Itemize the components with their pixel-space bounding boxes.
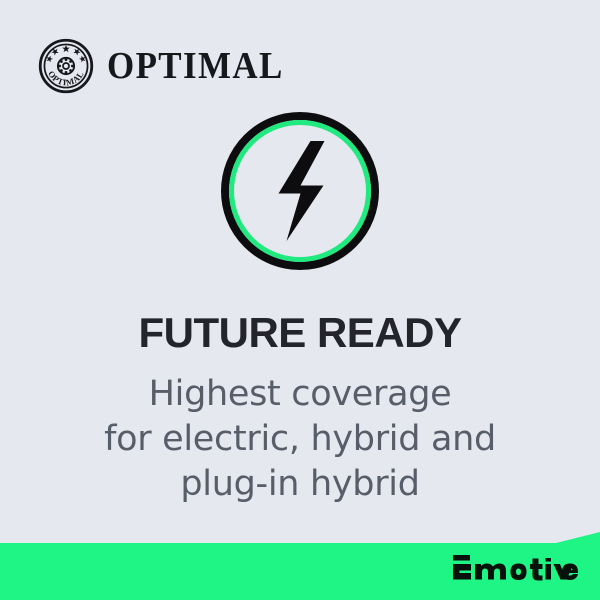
lightning-bolt-icon <box>264 139 336 243</box>
page-title: FUTURE READY <box>0 312 600 354</box>
brand-wordmark: OPTIMAL <box>107 47 284 85</box>
poster-canvas: OPTIMAL OPTIMAL <box>0 0 600 600</box>
lightning-bolt-in-circle-icon <box>221 112 379 270</box>
body-copy: Highest coverage for electric, hybrid an… <box>0 372 600 506</box>
emotive-wordmark-logo <box>452 553 578 587</box>
body-copy-line: for electric, hybrid and <box>0 417 600 462</box>
footer-band <box>0 532 600 600</box>
optimal-star-gear-emblem-icon: OPTIMAL <box>38 38 94 94</box>
brand-lockup: OPTIMAL OPTIMAL <box>38 38 299 94</box>
body-copy-line: plug-in hybrid <box>0 462 600 507</box>
body-copy-line: Highest coverage <box>0 372 600 417</box>
